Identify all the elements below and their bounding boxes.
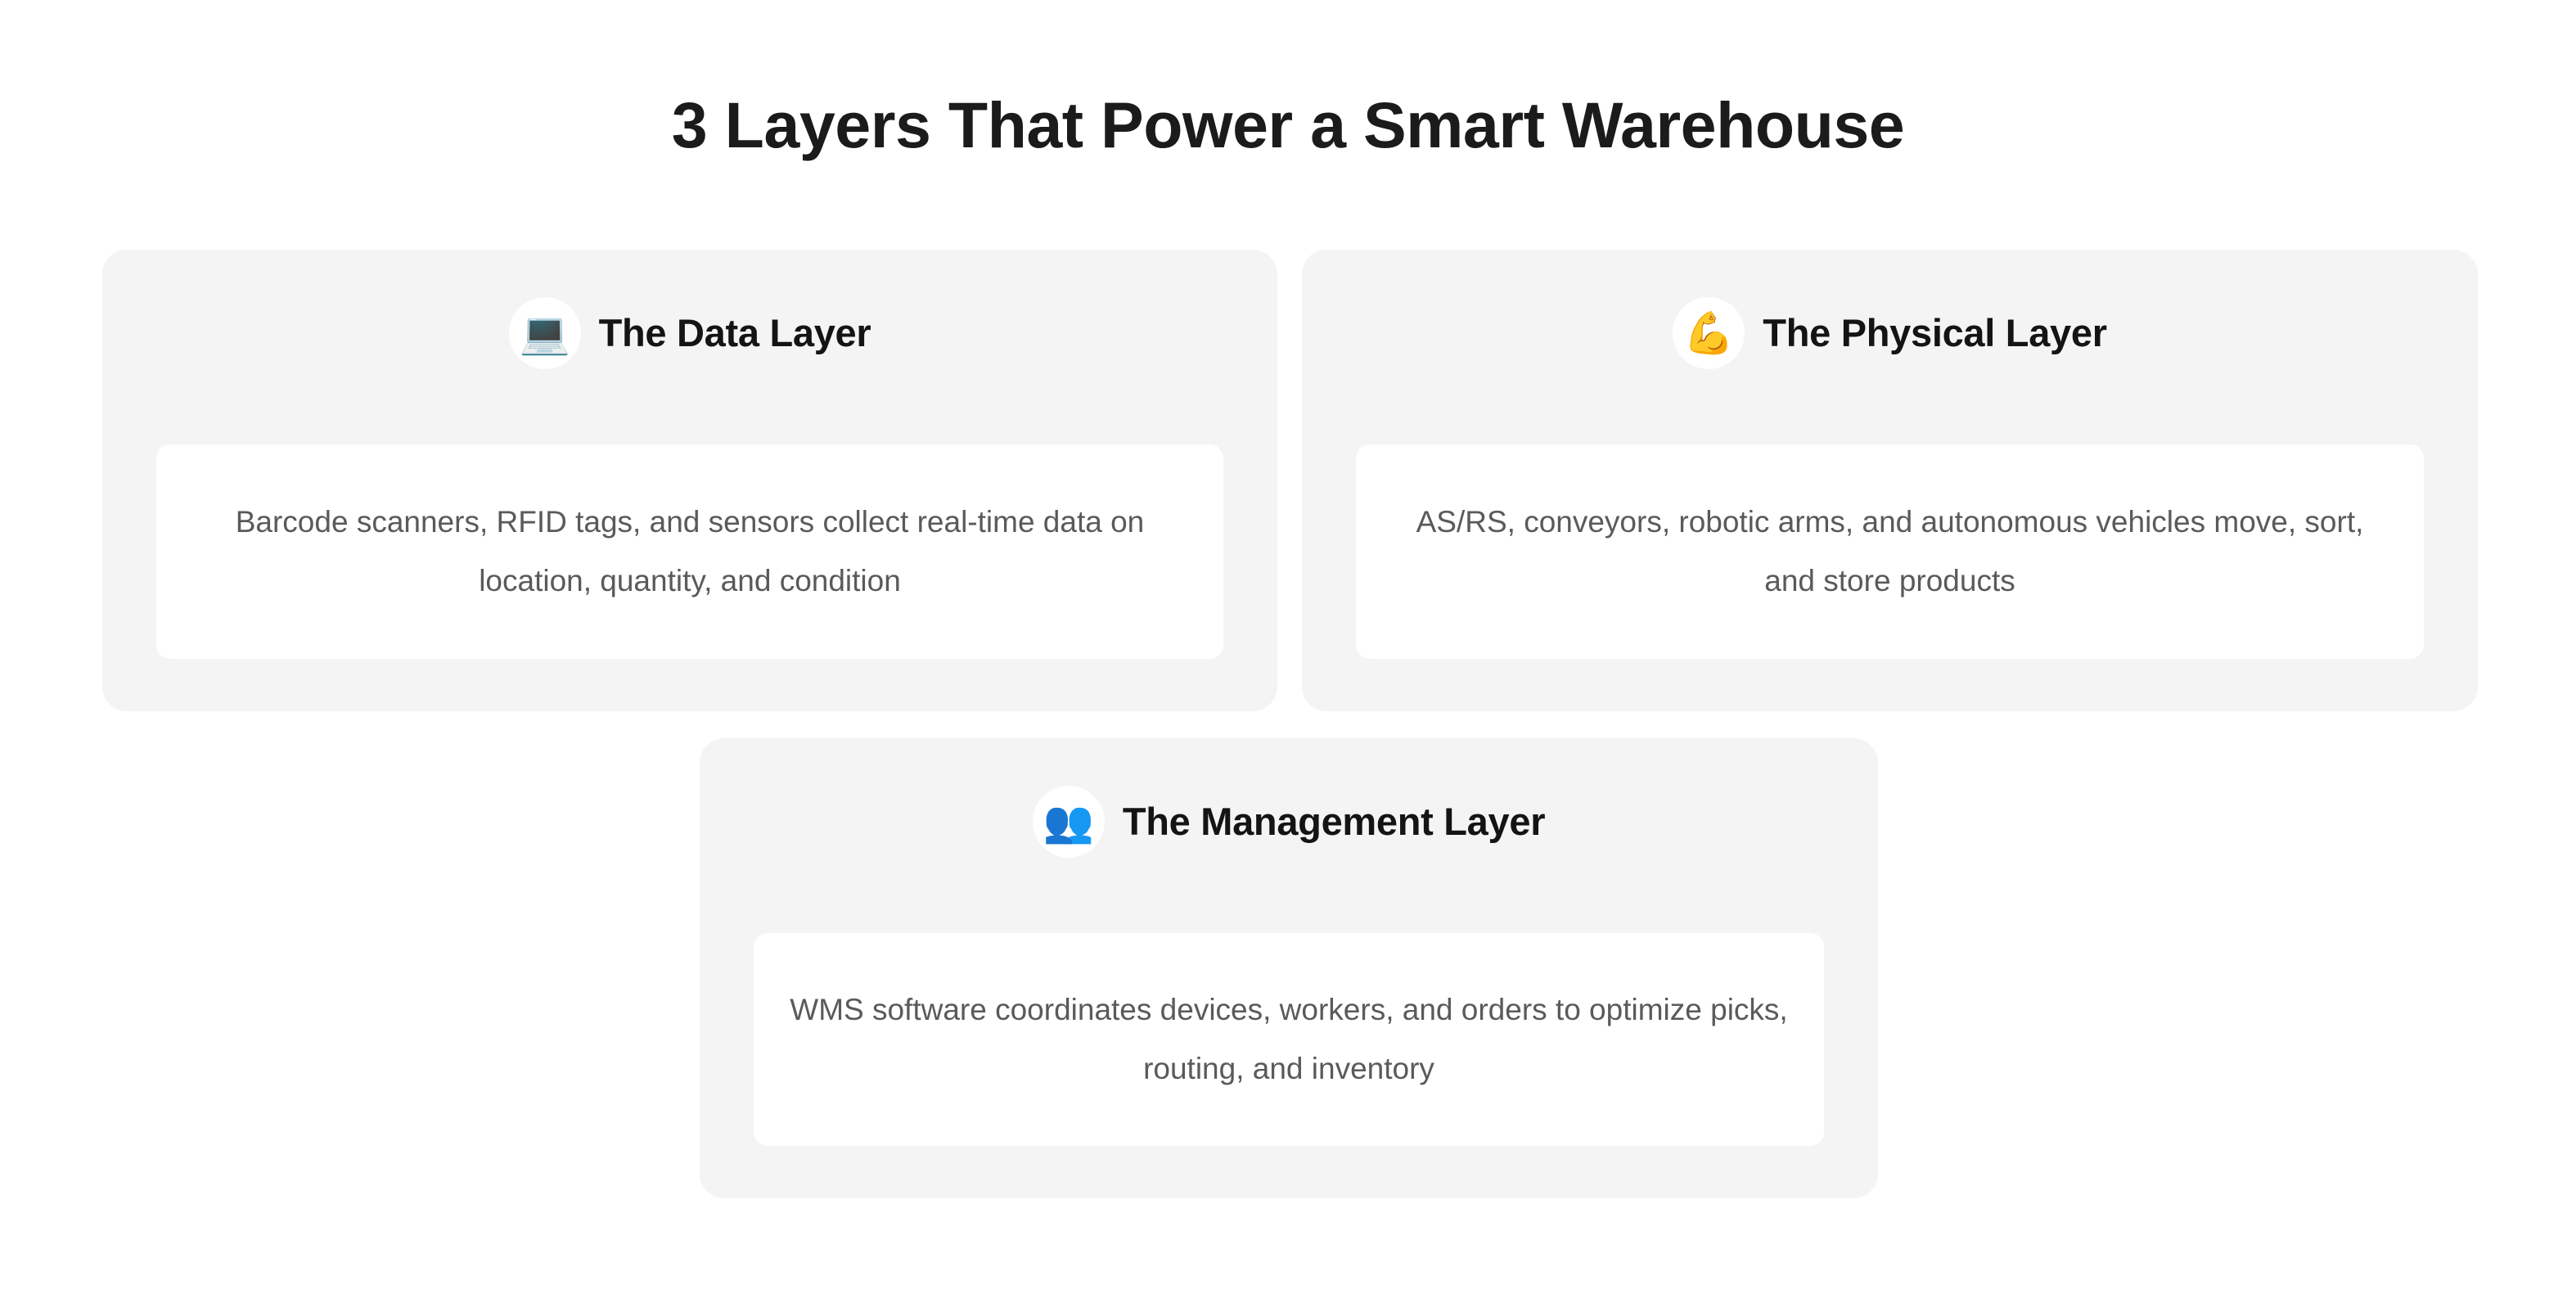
card-description-panel: AS/RS, conveyors, robotic arms, and auto… — [1356, 444, 2424, 659]
card-description: AS/RS, conveyors, robotic arms, and auto… — [1387, 493, 2393, 611]
card-description-panel: WMS software coordinates devices, worker… — [754, 933, 1824, 1146]
card-title: The Physical Layer — [1763, 309, 2106, 358]
laptop-icon: 💻 — [509, 297, 581, 369]
card-description-panel: Barcode scanners, RFID tags, and sensors… — [156, 444, 1223, 659]
card-management-layer: 👥 The Management Layer WMS software coor… — [700, 738, 1878, 1198]
card-title: The Data Layer — [599, 309, 871, 358]
card-header: 💪 The Physical Layer — [1302, 297, 2478, 369]
card-physical-layer: 💪 The Physical Layer AS/RS, conveyors, r… — [1302, 250, 2478, 711]
card-header: 💻 The Data Layer — [102, 297, 1277, 369]
page-title: 3 Layers That Power a Smart Warehouse — [0, 80, 2576, 170]
card-description: WMS software coordinates devices, worker… — [785, 981, 1793, 1098]
flexed-biceps-icon: 💪 — [1673, 297, 1745, 369]
busts-in-silhouette-icon: 👥 — [1033, 786, 1105, 858]
card-data-layer: 💻 The Data Layer Barcode scanners, RFID … — [102, 250, 1277, 711]
card-header: 👥 The Management Layer — [700, 786, 1878, 858]
card-description: Barcode scanners, RFID tags, and sensors… — [187, 493, 1192, 611]
infographic-canvas: 3 Layers That Power a Smart Warehouse 💻 … — [0, 0, 2576, 1303]
card-title: The Management Layer — [1123, 797, 1545, 846]
